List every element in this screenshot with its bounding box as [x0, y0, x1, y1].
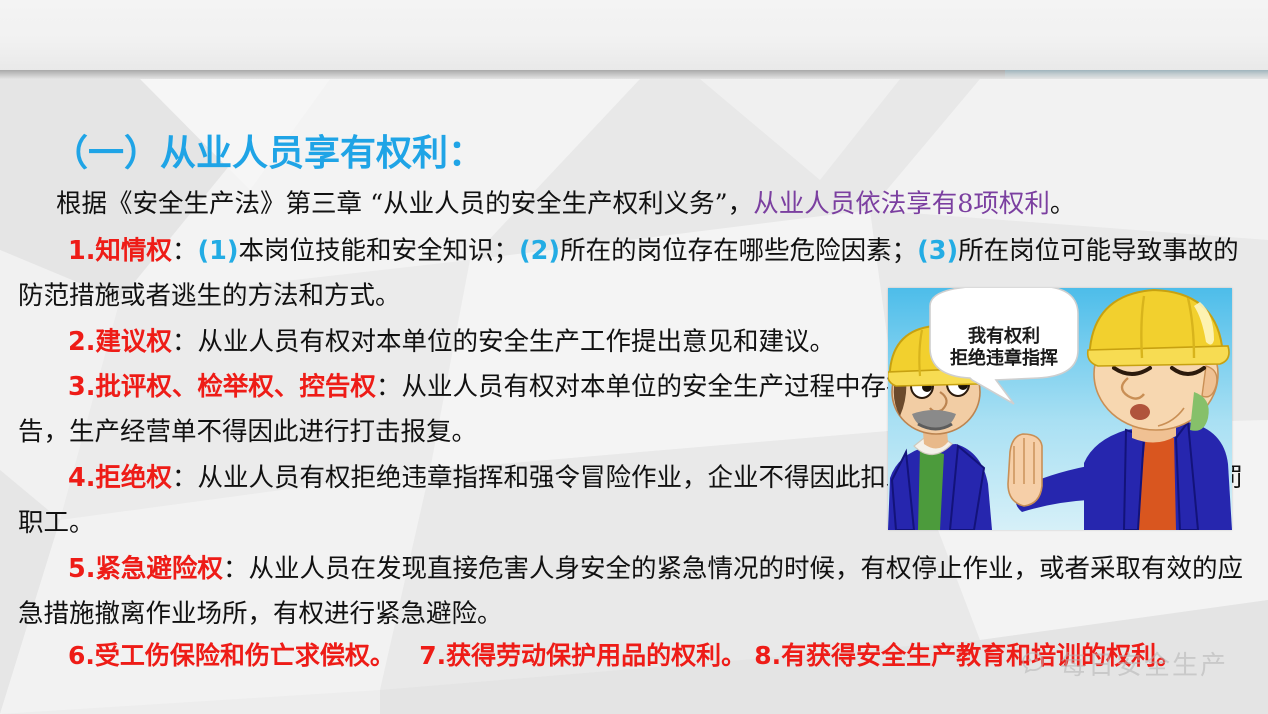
intro-tail: 。 [1050, 189, 1076, 219]
right-item-3-colon: ： [376, 372, 402, 402]
right-item-5-colon: ： [223, 554, 249, 584]
speech-line-1: 我有权利 [968, 325, 1040, 347]
right-item-2-colon: ： [172, 327, 198, 357]
right-item-1-marker-2: (2) [519, 236, 560, 266]
right-item-4-label: 4.拒绝权 [68, 463, 172, 493]
right-item-7: 7.获得劳动保护用品的权利。 [419, 641, 746, 670]
right-item-5: 5.紧急避险权：从业人员在发现直接危害人身安全的紧急情况的时候，有权停止作业，或… [18, 547, 1263, 637]
intro-lead: 根据《安全生产法》第三章 “从业人员的安全生产权利义务”， [56, 189, 753, 219]
slide-header-bar [0, 0, 1268, 70]
right-item-5-label: 5.紧急避险权 [68, 554, 223, 584]
right-item-8-period: 。 [1156, 641, 1181, 670]
right-item-1-text-1: 本岗位技能和安全知识； [239, 236, 520, 266]
right-item-1-label: 1.知情权 [68, 236, 172, 266]
intro-highlight: 从业人员依法享有8项权利 [753, 189, 1050, 219]
right-items-678: 6.受工伤保险和伤亡求偿权。 7.获得劳动保护用品的权利。 8.有获得安全生产教… [18, 633, 1263, 679]
intro-paragraph: 根据《安全生产法》第三章 “从业人员的安全生产权利义务”，从业人员依法享有8项权… [18, 182, 1258, 227]
right-item-4-colon: ： [172, 463, 198, 493]
right-item-1-marker-3: (3) [917, 236, 958, 266]
illustration-two-workers: 我有权利 拒绝违章指挥 [888, 288, 1232, 530]
right-item-1-text-2: 所在的岗位存在哪些危险因素； [560, 236, 917, 266]
cartoon-svg: 我有权利 拒绝违章指挥 [888, 288, 1232, 530]
right-item-8: 8.有获得安全生产教育和培训的权利 [754, 641, 1156, 670]
right-item-2-label: 2.建议权 [68, 327, 172, 357]
right-item-1-marker-1: (1) [197, 236, 238, 266]
header-badge-shadow [1005, 70, 1268, 79]
right-item-2-text: 从业人员有权对本单位的安全生产工作提出意见和建议。 [197, 327, 835, 357]
right-item-3-label: 3.批评权、检举权、控告权 [68, 372, 376, 402]
section-heading: （一）从业人员享有权利： [52, 124, 484, 176]
right-item-6: 6.受工伤保险和伤亡求偿权。 [68, 641, 395, 670]
slide-root: 《安全生产法》 法律法规 （一）从业人员享有权利： 根据《安全生产法》第三章 “… [0, 0, 1268, 714]
right-item-1-colon: ： [172, 236, 198, 266]
speech-line-2: 拒绝违章指挥 [950, 347, 1058, 369]
